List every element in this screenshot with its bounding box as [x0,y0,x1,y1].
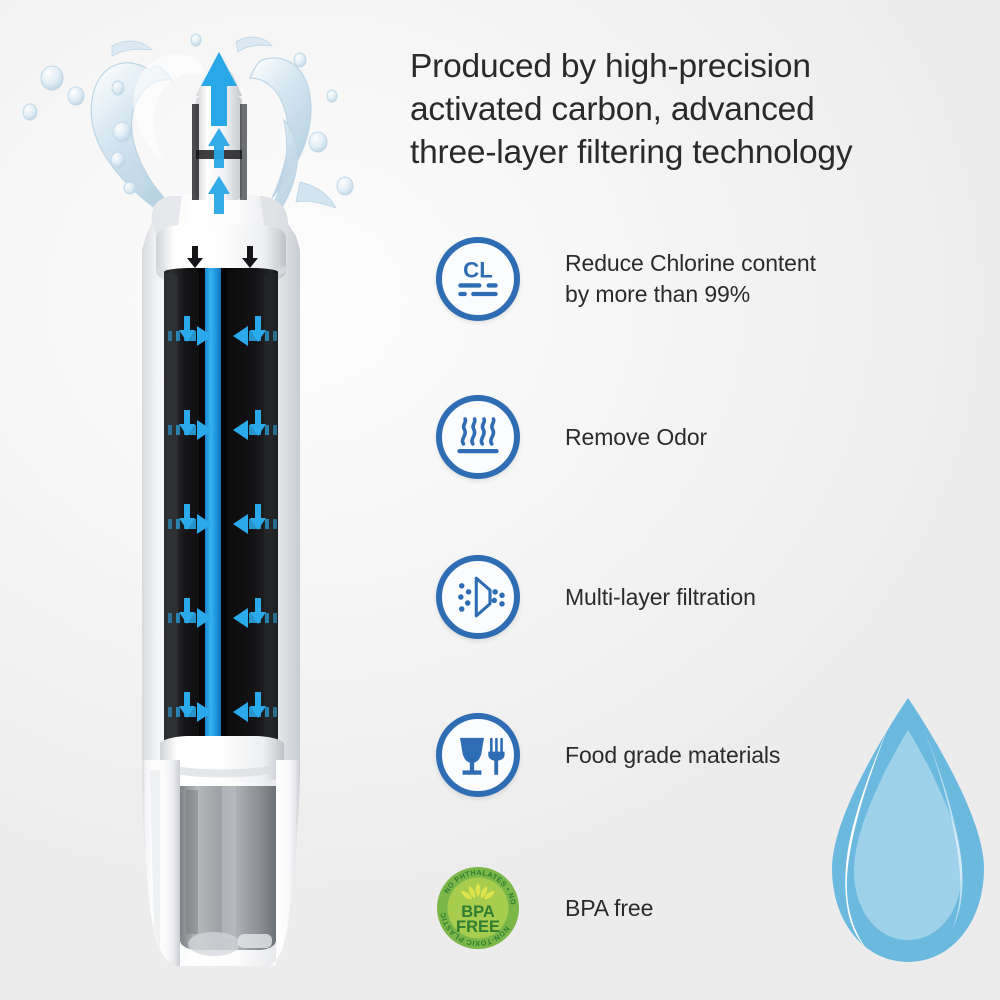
product-filter-illustration [0,0,420,1000]
feature-label-bpa-free: BPA free [565,893,653,924]
feature-remove-odor: Remove Odor [432,391,972,483]
center-flow-channel [205,268,221,750]
feature-reduce-chlorine: CL Reduce Chlorine content by more than … [432,233,972,325]
cl-icon-text: CL [463,257,493,282]
headline-line-2: activated carbon, advanced [410,88,985,131]
cl-icon-glyph: CL [442,243,514,315]
feature-label-food-grade-line-1: Food grade materials [565,740,780,771]
food-grade-glass-fork-icon [432,709,524,801]
feature-label-food-grade: Food grade materials [565,740,780,771]
filter-icon-glyph [442,561,514,633]
filter-cutaway-svg [0,0,420,1000]
odor-steam-icon [432,391,524,483]
feature-label-chlorine-line-2: by more than 99% [565,279,816,310]
headline-line-3: three-layer filtering technology [410,131,985,174]
infographic-canvas: Produced by high-precision activated car… [0,0,1000,1000]
page-headline: Produced by high-precision activated car… [410,45,985,174]
odor-icon-glyph [442,401,514,473]
multi-layer-filter-icon [432,551,524,643]
feature-label-chlorine: Reduce Chlorine content by more than 99% [565,248,816,310]
feature-label-filtration: Multi-layer filtration [565,582,756,613]
headline-line-1: Produced by high-precision [410,45,985,88]
feature-multi-layer-filtration: Multi-layer filtration [432,551,972,643]
feature-label-bpa-free-line-1: BPA free [565,893,653,924]
cl-chlorine-icon: CL [432,233,524,325]
odor-icon-circle [436,395,520,479]
water-drop-graphic [826,690,991,970]
cl-icon-circle: CL [436,237,520,321]
water-drop-svg [826,690,991,970]
bpa-free-badge-icon: NO PHTHALATES • NO BISPHENOL-A NON-TOXIC… [432,862,524,954]
bpa-text-line-2: FREE [456,918,500,936]
filter-icon-circle [436,555,520,639]
bpa-badge-glyph: NO PHTHALATES • NO BISPHENOL-A NON-TOXIC… [436,866,520,950]
food-grade-icon-glyph [442,719,514,791]
feature-label-odor-line-1: Remove Odor [565,422,707,453]
feature-label-odor: Remove Odor [565,422,707,453]
food-grade-icon-circle [436,713,520,797]
feature-label-chlorine-line-1: Reduce Chlorine content [565,248,816,279]
bpa-badge-circle: NO PHTHALATES • NO BISPHENOL-A NON-TOXIC… [436,866,520,950]
feature-label-filtration-line-1: Multi-layer filtration [565,582,756,613]
